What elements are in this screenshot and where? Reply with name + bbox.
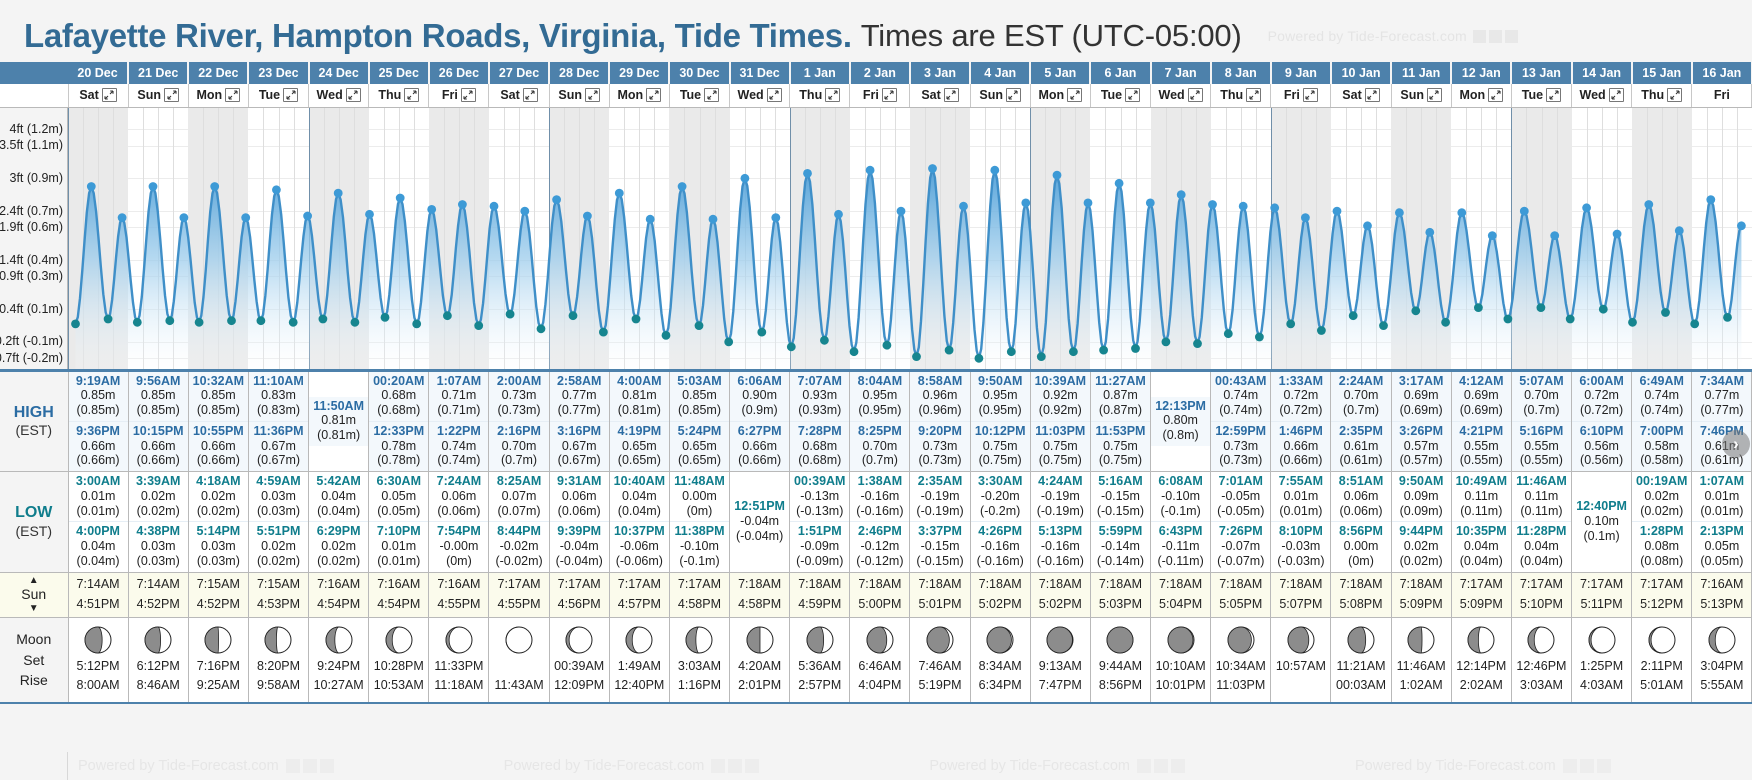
sunrise-time: 7:17AM: [489, 575, 548, 594]
sunrise-time: 7:18AM: [1331, 575, 1390, 594]
moonrise-time: 2:57PM: [790, 676, 849, 695]
tide-time: 12:51PM: [730, 499, 789, 514]
sun-cell: 7:18AM4:58PM: [730, 572, 790, 617]
moon-cell: 4:20AM2:01PM: [730, 617, 790, 703]
day-header-thu[interactable]: Thu: [1211, 84, 1271, 107]
date-header-3-jan[interactable]: 3 Jan: [910, 62, 970, 84]
tide-height-secondary: (-0.16m): [1031, 554, 1090, 569]
date-header-10-jan[interactable]: 10 Jan: [1331, 62, 1391, 84]
high-tide-cell: 8:58AM0.96m(0.96m)9:20PM0.73m(0.73m): [910, 372, 970, 472]
day-header-sun[interactable]: Sun: [128, 84, 188, 107]
high-tide-point: [87, 182, 96, 191]
day-header-sun[interactable]: Sun: [1391, 84, 1451, 107]
tide-time: 5:24PM: [670, 424, 729, 439]
day-header-thu[interactable]: Thu: [790, 84, 850, 107]
tide-height-primary: -0.13m: [790, 489, 849, 504]
moon-cell: 9:13AM7:47PM: [1030, 617, 1090, 703]
expand-day-icon[interactable]: [944, 88, 959, 102]
tide-height-primary: -0.14m: [1091, 539, 1150, 554]
moon-cell: 11:43AM: [489, 617, 549, 703]
day-header-wed[interactable]: Wed: [309, 84, 369, 107]
low-tide-point: [945, 345, 954, 354]
moon-phase-icon: [1286, 625, 1316, 655]
tide-height-primary: 0.04m: [309, 489, 368, 504]
high-tide-cell: 7:07AM0.93m(0.93m)7:28PM0.68m(0.68m): [790, 372, 850, 472]
date-header-22-dec[interactable]: 22 Dec: [188, 62, 248, 84]
tide-time: 2:35PM: [1331, 424, 1390, 439]
high-tide-cell: 4:12AM0.69m(0.69m)4:21PM0.55m(0.55m): [1451, 372, 1511, 472]
tide-time: 9:50AM: [971, 374, 1030, 389]
low-tide-event: 3:30AM-0.20m(-0.2m): [971, 472, 1030, 521]
tide-height-primary: 0.65m: [670, 439, 729, 454]
low-tide-event: 10:49AM0.11m(0.11m): [1452, 472, 1511, 521]
tide-height-primary: 0.90m: [730, 388, 789, 403]
expand-day-icon[interactable]: [1546, 88, 1561, 102]
low-tide-cell: 5:16AM-0.15m(-0.15m)5:59PM-0.14m(-0.14m): [1090, 472, 1150, 573]
tide-time: 10:15PM: [129, 424, 188, 439]
tide-height-primary: 0.02m: [309, 539, 368, 554]
date-header-21-dec[interactable]: 21 Dec: [128, 62, 188, 84]
sunrise-time: 7:15AM: [249, 575, 308, 594]
tide-height-secondary: (0.01m): [1271, 504, 1330, 519]
expand-day-icon[interactable]: [1667, 88, 1682, 102]
moon-phase-icon: [564, 625, 594, 655]
high-tide-event: 5:07AM0.70m(0.7m): [1512, 372, 1571, 421]
sunset-time: 4:55PM: [429, 595, 488, 614]
day-header-wed[interactable]: Wed: [1151, 84, 1211, 107]
date-header-28-dec[interactable]: 28 Dec: [549, 62, 609, 84]
sunrise-time: 7:17AM: [670, 575, 729, 594]
date-header-31-dec[interactable]: 31 Dec: [730, 62, 790, 84]
tide-height-primary: 0.67m: [249, 439, 308, 454]
day-header-label: Sun: [558, 88, 582, 102]
date-header-label: 2 Jan: [864, 66, 896, 80]
tide-height-primary: 0.11m: [1512, 489, 1571, 504]
moon-phase-icon: [745, 625, 775, 655]
expand-day-icon[interactable]: [461, 88, 476, 102]
expand-day-icon[interactable]: [882, 88, 897, 102]
moonset-time: 9:24PM: [309, 657, 368, 676]
tide-height-secondary: (0.06m): [550, 504, 609, 519]
low-tide-point: [1349, 311, 1358, 320]
low-tide-row: LOW (EST) 3:00AM0.01m(0.01m)4:00PM0.04m(…: [0, 472, 1752, 573]
low-tide-cell: 3:00AM0.01m(0.01m)4:00PM0.04m(0.04m): [68, 472, 128, 573]
expand-day-icon[interactable]: [404, 88, 419, 102]
day-header-sun[interactable]: Sun: [549, 84, 609, 107]
moonset-time: 9:44AM: [1091, 657, 1150, 676]
low-tide-cell: 00:39AM-0.13m(-0.13m)1:51PM-0.09m(-0.09m…: [790, 472, 850, 573]
expand-day-icon[interactable]: [1125, 88, 1140, 102]
day-header-mon[interactable]: Mon: [609, 84, 669, 107]
day-header-label: Tue: [1522, 88, 1543, 102]
high-tide-point: [458, 200, 467, 209]
tide-height-secondary: (0.66m): [730, 453, 789, 468]
day-header-sat[interactable]: Sat: [910, 84, 970, 107]
date-header-1-jan[interactable]: 1 Jan: [790, 62, 850, 84]
moon-phase-icon: [1406, 625, 1436, 655]
day-header-label: Fri: [1714, 88, 1730, 102]
tide-height-secondary: (0.04m): [309, 504, 368, 519]
tide-time: 00:19AM: [1632, 474, 1691, 489]
page-header: Lafayette River, Hampton Roads, Virginia…: [0, 0, 1752, 62]
tide-height-secondary: (0.61m): [1331, 453, 1390, 468]
moonrise-time: 1:16PM: [670, 676, 729, 695]
moon-phase-icon: [1466, 625, 1496, 655]
date-header-24-dec[interactable]: 24 Dec: [309, 62, 369, 84]
high-tide-point: [741, 173, 750, 182]
low-tide-point: [1537, 303, 1546, 312]
low-tide-point: [569, 311, 578, 320]
tide-height-primary: 0.77m: [1692, 388, 1751, 403]
day-header-tue[interactable]: Tue: [248, 84, 308, 107]
moon-phase-icon: [1526, 625, 1556, 655]
high-tide-event: 6:10PM0.56m(0.56m): [1572, 421, 1631, 471]
tide-time: 1:33AM: [1271, 374, 1330, 389]
tide-time: 7:55AM: [1271, 474, 1330, 489]
day-header-fri[interactable]: Fri: [1271, 84, 1331, 107]
low-tide-point: [1286, 319, 1295, 328]
date-header-16-jan[interactable]: 16 Jan: [1692, 62, 1752, 84]
tide-time: 9:56AM: [129, 374, 188, 389]
tide-height-primary: 0.75m: [971, 439, 1030, 454]
tide-height-secondary: (0.03m): [129, 554, 188, 569]
footer-mark: Powered by Tide-Forecast.com: [929, 758, 1185, 774]
date-header-27-dec[interactable]: 27 Dec: [489, 62, 549, 84]
day-header-sat[interactable]: Sat: [68, 84, 128, 107]
date-header-7-jan[interactable]: 7 Jan: [1151, 62, 1211, 84]
date-header-9-jan[interactable]: 9 Jan: [1271, 62, 1331, 84]
tide-height-primary: 0.10m: [1572, 514, 1631, 529]
scroll-next-button[interactable]: ›: [1722, 430, 1750, 458]
low-tide-event: 1:28PM0.08m(0.08m): [1632, 521, 1691, 571]
low-tide-point: [474, 321, 483, 330]
tide-time: 9:20PM: [910, 424, 969, 439]
tide-time: 11:38PM: [670, 524, 729, 539]
high-tide-event: 9:36PM0.66m(0.66m): [69, 421, 128, 471]
day-header-sun[interactable]: Sun: [970, 84, 1030, 107]
date-header-23-dec[interactable]: 23 Dec: [248, 62, 308, 84]
date-header-label: 15 Jan: [1642, 66, 1681, 80]
tide-time: 5:16AM: [1091, 474, 1150, 489]
high-tide-label-text: HIGH: [0, 404, 68, 422]
low-tide-point: [227, 316, 236, 325]
tide-time: 4:24AM: [1031, 474, 1090, 489]
high-tide-event: 10:55PM0.66m(0.66m): [189, 421, 248, 471]
tide-time: 5:51PM: [249, 524, 308, 539]
tide-time: 5:59PM: [1091, 524, 1150, 539]
tide-time: 11:48AM: [670, 474, 729, 489]
date-header-11-jan[interactable]: 11 Jan: [1391, 62, 1451, 84]
moonrise-time: 8:00AM: [69, 676, 128, 695]
tide-height-primary: 0.02m: [129, 489, 188, 504]
moon-phase-icon: [1226, 625, 1256, 655]
tide-height-secondary: (0.1m): [1572, 529, 1631, 544]
moonrise-time: 12:09PM: [550, 676, 609, 695]
y-axis-tick-label: 3ft (0.9m): [10, 171, 64, 185]
tide-time: 5:16PM: [1512, 424, 1571, 439]
expand-day-icon[interactable]: [164, 88, 179, 102]
expand-day-icon[interactable]: [825, 88, 840, 102]
tide-time: 9:44PM: [1392, 524, 1451, 539]
moonset-time: 12:14PM: [1452, 657, 1511, 676]
day-header-fri[interactable]: Fri: [850, 84, 910, 107]
date-header-label: 4 Jan: [984, 66, 1016, 80]
day-header-mon[interactable]: Mon: [188, 84, 248, 107]
tide-height-secondary: (-0.09m): [790, 554, 849, 569]
expand-day-icon[interactable]: [585, 88, 600, 102]
low-tide-event: 11:48AM0.00m(0m): [670, 472, 729, 521]
tide-time: 2:24AM: [1331, 374, 1390, 389]
expand-day-icon[interactable]: [523, 88, 538, 102]
tide-time: 6:30AM: [369, 474, 428, 489]
tide-height-primary: 0.06m: [1331, 489, 1390, 504]
date-header-label: 23 Dec: [258, 66, 298, 80]
high-tide-point: [1177, 190, 1186, 199]
low-tide-point: [1566, 314, 1575, 323]
date-header-12-jan[interactable]: 12 Jan: [1451, 62, 1511, 84]
high-tide-cell: 11:50AM0.81m(0.81m): [309, 372, 369, 472]
high-tide-point: [959, 201, 968, 210]
day-header-label: Wed: [317, 88, 343, 102]
sunrise-time: 7:17AM: [1572, 575, 1631, 594]
footer-mark-label: Powered by Tide-Forecast.com: [1355, 758, 1556, 774]
tide-time: 6:27PM: [730, 424, 789, 439]
moonset-time: 3:03AM: [670, 657, 729, 676]
high-tide-event: 11:03PM0.75m(0.75m): [1031, 421, 1090, 471]
day-header-fri[interactable]: Fri: [1692, 84, 1752, 107]
low-tide-point: [1037, 352, 1046, 361]
expand-day-icon[interactable]: [225, 88, 240, 102]
high-tide-point: [928, 164, 937, 173]
moonset-time: 9:13AM: [1031, 657, 1090, 676]
tide-height-primary: 0.02m: [189, 489, 248, 504]
high-tide-point: [1706, 195, 1715, 204]
low-tide-event: 7:26PM-0.07m(-0.07m): [1211, 521, 1270, 571]
low-tide-point: [883, 340, 892, 349]
tide-height-primary: 0.56m: [1572, 439, 1631, 454]
header-corner-day: [0, 84, 68, 107]
date-header-2-jan[interactable]: 2 Jan: [850, 62, 910, 84]
expand-day-icon[interactable]: [704, 88, 719, 102]
tide-time: 6:06AM: [730, 374, 789, 389]
high-tide-point: [180, 213, 189, 222]
sun-cell: 7:15AM4:52PM: [188, 572, 248, 617]
expand-day-icon[interactable]: [1246, 88, 1261, 102]
expand-day-icon[interactable]: [1188, 88, 1203, 102]
expand-day-icon[interactable]: [1006, 88, 1021, 102]
day-header-sat[interactable]: Sat: [1331, 84, 1391, 107]
y-axis-tick-label: 4ft (1.2m): [10, 122, 64, 136]
date-header-26-dec[interactable]: 26 Dec: [429, 62, 489, 84]
moon-phase-icon: [444, 625, 474, 655]
sunset-time: 5:02PM: [971, 595, 1030, 614]
day-header-label: Sun: [137, 88, 161, 102]
y-axis-tick-label: 2.4ft (0.7m): [0, 204, 63, 218]
high-tide-point: [1550, 231, 1559, 240]
date-header-5-jan[interactable]: 5 Jan: [1030, 62, 1090, 84]
day-header-label: Sat: [79, 88, 98, 102]
expand-day-icon[interactable]: [1303, 88, 1318, 102]
high-tide-event: 2:58AM0.77m(0.77m): [550, 372, 609, 421]
date-header-20-dec[interactable]: 20 Dec: [68, 62, 128, 84]
chart-plot-area[interactable]: [68, 108, 1752, 372]
low-tide-event: 5:51PM0.02m(0.02m): [249, 521, 308, 571]
moonrise-time: 5:19PM: [910, 676, 969, 695]
low-tide-cell: 8:25AM0.07m(0.07m)8:44PM-0.02m(-0.02m): [489, 472, 549, 573]
tide-time: 2:00AM: [489, 374, 548, 389]
date-header-label: 30 Dec: [679, 66, 719, 80]
sunset-time: 5:11PM: [1572, 595, 1631, 614]
moon-phase-icon: [203, 625, 233, 655]
tide-time: 00:20AM: [369, 374, 428, 389]
date-header-8-jan[interactable]: 8 Jan: [1211, 62, 1271, 84]
date-header-4-jan[interactable]: 4 Jan: [970, 62, 1030, 84]
sunrise-time: 7:18AM: [730, 575, 789, 594]
tide-time: 8:56PM: [1331, 524, 1390, 539]
sun-cell: 7:14AM4:51PM: [68, 572, 128, 617]
date-header-label: 5 Jan: [1044, 66, 1076, 80]
high-tide-cell: 10:39AM0.92m(0.92m)11:03PM0.75m(0.75m): [1030, 372, 1090, 472]
moonset-time: 1:49AM: [610, 657, 669, 676]
moon-row: Moon Set Rise 5:12PM8:00AM6:12PM8:46AM7:…: [0, 617, 1752, 703]
tide-chart-cell[interactable]: 4ft (1.2m)3.5ft (1.1m)3ft (0.9m)2.4ft (0…: [0, 107, 1752, 372]
sun-cell: 7:17AM5:09PM: [1451, 572, 1511, 617]
expand-day-icon[interactable]: [346, 88, 361, 102]
day-header-fri[interactable]: Fri: [429, 84, 489, 107]
tide-height-secondary: (0.05m): [369, 504, 428, 519]
sunrise-time: 7:14AM: [129, 575, 188, 594]
tide-time: 1:38AM: [850, 474, 909, 489]
day-header-thu[interactable]: Thu: [369, 84, 429, 107]
date-header-label: 26 Dec: [439, 66, 479, 80]
day-header-row: SatSunMonTueWedThuFriSatSunMonTueWedThuF…: [0, 84, 1752, 107]
low-tide-event: 7:01AM-0.05m(-0.05m): [1211, 472, 1270, 521]
tide-height-secondary: (0.58m): [1632, 453, 1691, 468]
moonrise-time: 1:02AM: [1392, 676, 1451, 695]
expand-day-icon[interactable]: [646, 88, 661, 102]
sunset-time: 5:08PM: [1331, 595, 1390, 614]
tide-height-secondary: (0.74m): [1632, 403, 1691, 418]
tide-time: 8:51AM: [1331, 474, 1390, 489]
moonset-time: 11:46AM: [1392, 657, 1451, 676]
low-tide-point: [1690, 319, 1699, 328]
high-tide-cell: 3:17AM0.69m(0.69m)3:26PM0.57m(0.57m): [1391, 372, 1451, 472]
moonset-time: 7:16PM: [189, 657, 248, 676]
tide-time: 5:14PM: [189, 524, 248, 539]
low-tide-point: [724, 337, 733, 346]
date-header-6-jan[interactable]: 6 Jan: [1090, 62, 1150, 84]
tide-height-primary: -0.10m: [670, 539, 729, 554]
moon-phase-icon: [865, 625, 895, 655]
day-header-mon[interactable]: Mon: [1030, 84, 1090, 107]
tide-time: 11:03PM: [1031, 424, 1090, 439]
tide-height-primary: 0.78m: [369, 439, 428, 454]
expand-day-icon[interactable]: [1427, 88, 1442, 102]
expand-day-icon[interactable]: [767, 88, 782, 102]
expand-day-icon[interactable]: [1609, 88, 1624, 102]
date-header-29-dec[interactable]: 29 Dec: [609, 62, 669, 84]
tide-time: 1:07AM: [429, 374, 488, 389]
tide-height-secondary: (0.7m): [1512, 403, 1571, 418]
tide-height-secondary: (0.87m): [1091, 403, 1150, 418]
date-header-14-jan[interactable]: 14 Jan: [1572, 62, 1632, 84]
low-tide-event: 7:24AM0.06m(0.06m): [429, 472, 488, 521]
low-tide-cell: 7:24AM0.06m(0.06m)7:54PM-0.00m(0m): [429, 472, 489, 573]
sunrise-time: 7:18AM: [1151, 575, 1210, 594]
tide-height-primary: 0.75m: [1091, 439, 1150, 454]
sunset-time: 5:05PM: [1211, 595, 1270, 614]
expand-day-icon[interactable]: [1488, 88, 1503, 102]
high-tide-event: 5:03AM0.85m(0.85m): [670, 372, 729, 421]
header-corner: [0, 62, 68, 84]
tide-table-wrapper[interactable]: 20 Dec21 Dec22 Dec23 Dec24 Dec25 Dec26 D…: [0, 62, 1752, 704]
day-header-thu[interactable]: Thu: [1632, 84, 1692, 107]
high-tide-event: 3:17AM0.69m(0.69m): [1392, 372, 1451, 421]
sun-cell: 7:17AM5:11PM: [1572, 572, 1632, 617]
day-header-tue[interactable]: Tue: [1090, 84, 1150, 107]
tide-height-secondary: (0.68m): [369, 403, 428, 418]
tide-height-primary: 0.61m: [1331, 439, 1390, 454]
low-tide-point: [289, 317, 298, 326]
high-tide-cell: 1:07AM0.71m(0.71m)1:22PM0.74m(0.74m): [429, 372, 489, 472]
tide-height-secondary: (0.72m): [1572, 403, 1631, 418]
sunset-time: 5:00PM: [850, 595, 909, 614]
day-header-tue[interactable]: Tue: [1511, 84, 1571, 107]
high-tide-point: [990, 165, 999, 174]
moon-cell: 11:21AM00:03AM: [1331, 617, 1391, 703]
high-tide-event: 2:24AM0.70m(0.7m): [1331, 372, 1390, 421]
y-axis: 4ft (1.2m)3.5ft (1.1m)3ft (0.9m)2.4ft (0…: [0, 108, 68, 372]
tide-height-secondary: (0.67m): [249, 453, 308, 468]
day-header-label: Wed: [1580, 88, 1606, 102]
y-axis-tick-label: 0.4ft (0.1m): [0, 302, 63, 316]
date-header-25-dec[interactable]: 25 Dec: [369, 62, 429, 84]
date-header-13-jan[interactable]: 13 Jan: [1511, 62, 1571, 84]
low-tide-label: LOW (EST): [0, 472, 68, 573]
tide-height-primary: 0.55m: [1452, 439, 1511, 454]
moonset-time: 5:12PM: [69, 657, 128, 676]
date-header-label: 11 Jan: [1402, 66, 1440, 80]
high-tide-point: [803, 169, 812, 178]
tide-height-secondary: (0.04m): [610, 504, 669, 519]
date-header-15-jan[interactable]: 15 Jan: [1632, 62, 1692, 84]
day-header-sat[interactable]: Sat: [489, 84, 549, 107]
expand-day-icon[interactable]: [102, 88, 117, 102]
tide-height-primary: 0.74m: [429, 439, 488, 454]
tide-height-primary: 0.58m: [1632, 439, 1691, 454]
day-header-wed[interactable]: Wed: [730, 84, 790, 107]
tide-height-primary: -0.04m: [730, 514, 789, 529]
date-header-30-dec[interactable]: 30 Dec: [669, 62, 729, 84]
tide-time: 4:59AM: [249, 474, 308, 489]
tide-height-primary: 0.80m: [1151, 413, 1210, 428]
low-tide-event: 6:08AM-0.10m(-0.1m): [1151, 472, 1210, 521]
expand-day-icon[interactable]: [1365, 88, 1380, 102]
tide-time: 8:25PM: [850, 424, 909, 439]
expand-day-icon[interactable]: [1067, 88, 1082, 102]
moon-cell: 11:46AM1:02AM: [1391, 617, 1451, 703]
day-header-mon[interactable]: Mon: [1451, 84, 1511, 107]
high-tide-event: 10:32AM0.85m(0.85m): [189, 372, 248, 421]
day-header-wed[interactable]: Wed: [1572, 84, 1632, 107]
moonrise-time: 6:34PM: [971, 676, 1030, 695]
expand-day-icon[interactable]: [283, 88, 298, 102]
low-tide-event: 6:43PM-0.11m(-0.11m): [1151, 521, 1210, 571]
tide-chart[interactable]: 4ft (1.2m)3.5ft (1.1m)3ft (0.9m)2.4ft (0…: [0, 108, 1752, 372]
low-tide-event: 5:14PM0.03m(0.03m): [189, 521, 248, 571]
powered-by-top: Powered by Tide-Forecast.com: [1268, 28, 1518, 44]
day-header-tue[interactable]: Tue: [669, 84, 729, 107]
